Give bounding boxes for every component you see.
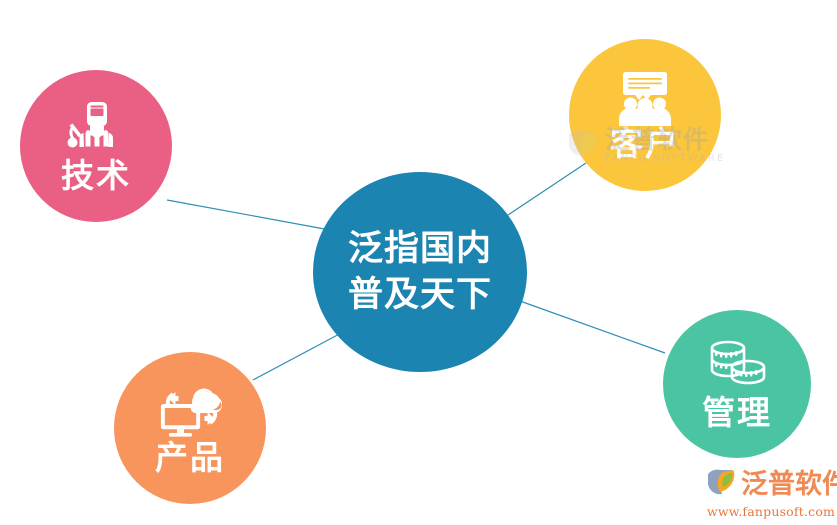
brand-url: www.fanpusoft.com	[707, 504, 835, 519]
customer-group-icon	[613, 71, 677, 127]
cloud-sync-monitor-icon	[158, 383, 222, 439]
node-tech-label: 技术	[61, 159, 131, 192]
coin-stack-icon	[704, 340, 770, 392]
node-client-label: 客户	[610, 127, 680, 160]
node-product[interactable]: 产品	[114, 352, 266, 504]
infographic-canvas: 泛指国内 普及天下	[0, 0, 837, 525]
welder-icon	[65, 101, 127, 157]
connector-hub-to-client	[508, 163, 586, 215]
hub-label-line1: 泛指国内	[348, 226, 492, 272]
node-client[interactable]: 客户	[569, 39, 721, 191]
brand-logo[interactable]: 泛普软件 www.fanpusoft.com	[706, 468, 837, 519]
connector-hub-to-manage	[520, 301, 665, 353]
fanpu-leaf-logo-icon	[706, 468, 738, 501]
connector-hub-to-product	[253, 331, 345, 380]
node-manage-label: 管理	[702, 396, 772, 429]
hub-label-line2: 普及天下	[348, 272, 492, 318]
node-product-label: 产品	[155, 441, 225, 474]
node-tech[interactable]: 技术	[20, 70, 172, 222]
connector-hub-to-tech	[167, 200, 330, 230]
node-manage[interactable]: 管理	[663, 310, 811, 458]
hub-node-center[interactable]: 泛指国内 普及天下	[313, 172, 527, 372]
brand-name-cn: 泛普软件	[741, 471, 837, 498]
